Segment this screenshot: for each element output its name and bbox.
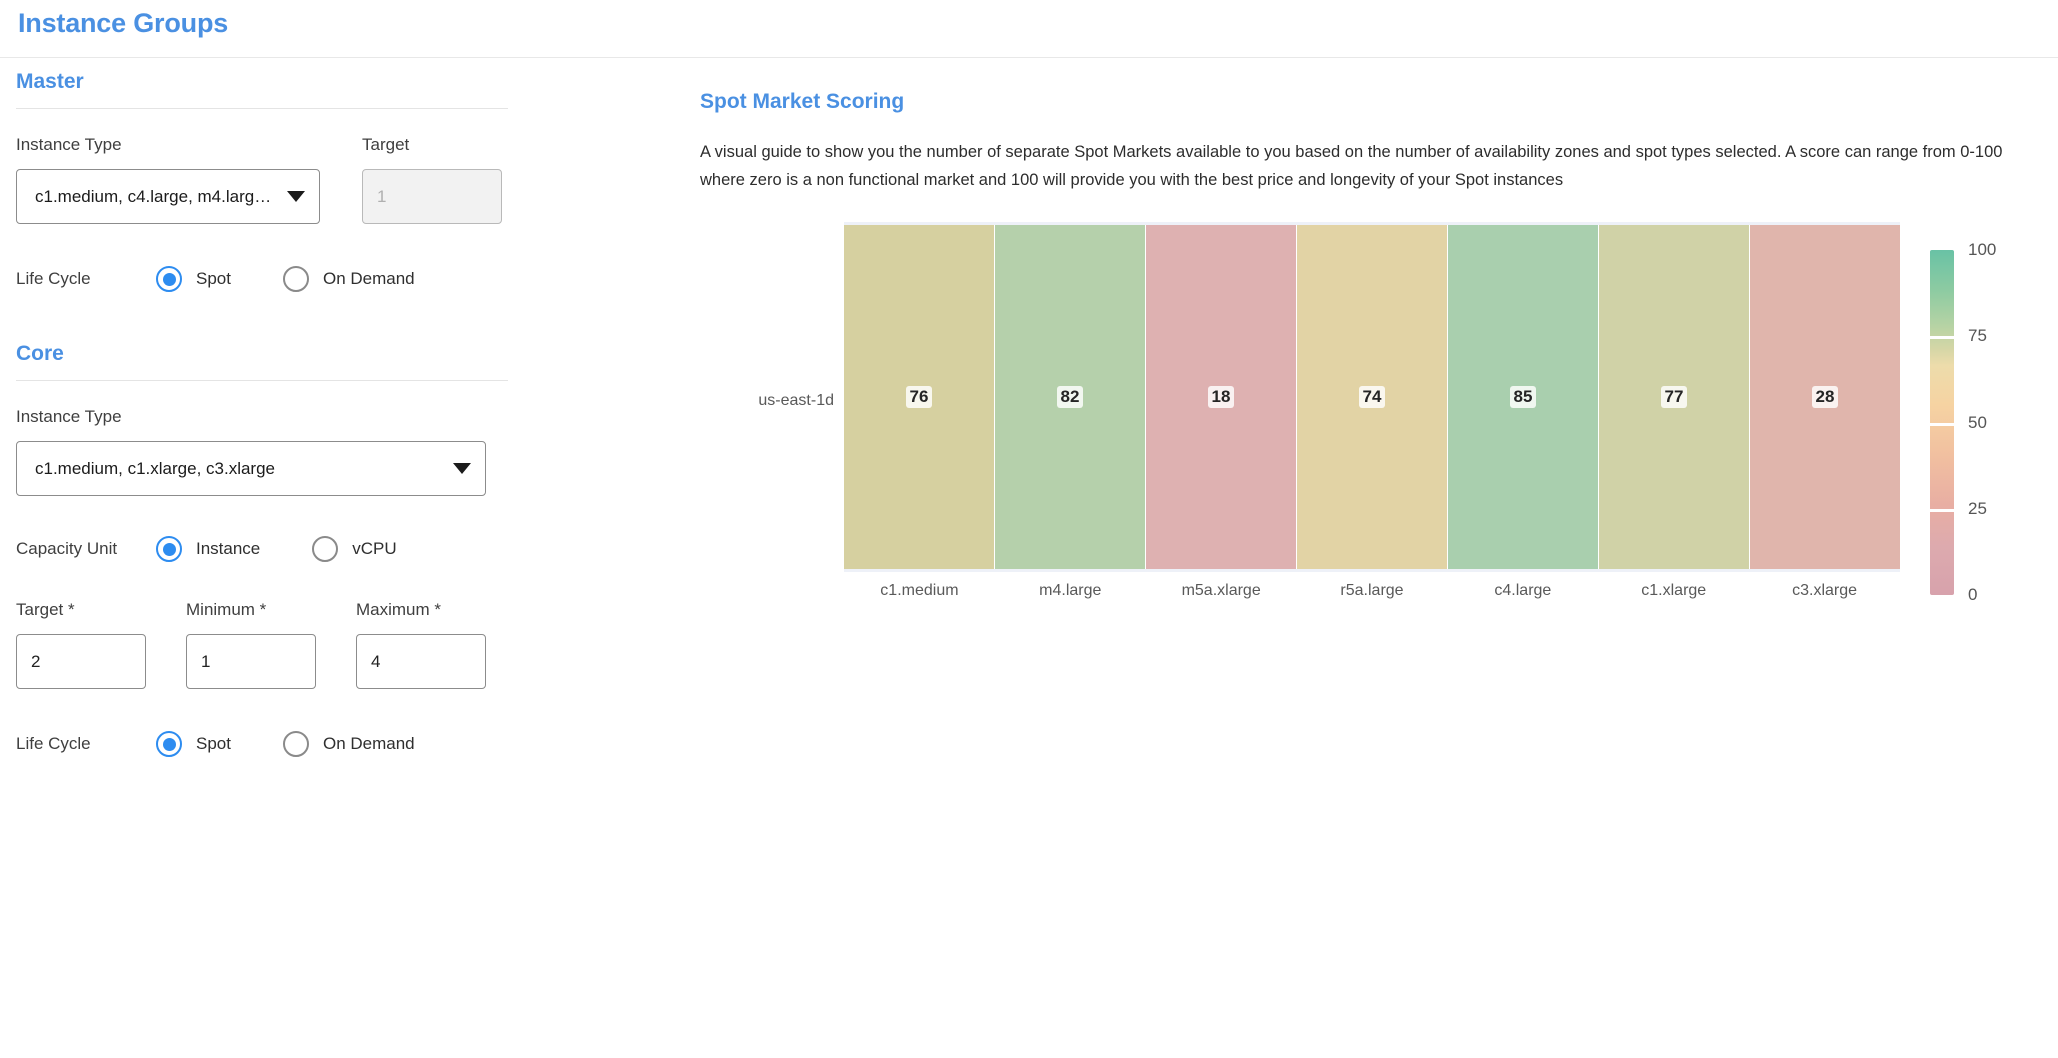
- core-heading: Core: [16, 342, 700, 366]
- colorbar-tick-label: 50: [1968, 413, 1987, 433]
- heatmap-colorbar: 1007550250: [1930, 242, 2040, 602]
- heatmap-cell-value: 85: [1510, 386, 1537, 408]
- spot-market-scoring-panel: Spot Market Scoring A visual guide to sh…: [700, 70, 2058, 1058]
- core-instance-type-value: c1.medium, c1.xlarge, c3.xlarge: [35, 459, 275, 479]
- heatmap-cell[interactable]: 74: [1297, 225, 1448, 569]
- heatmap-x-label: c3.xlarge: [1749, 582, 1900, 600]
- colorbar-tick-label: 25: [1968, 499, 1987, 519]
- core-maximum-label: Maximum *: [356, 600, 526, 620]
- heatmap-x-label: c4.large: [1447, 582, 1598, 600]
- spot-market-heatmap: us-east-1d 76821874857728 c1.mediumm4.la…: [700, 222, 2050, 642]
- core-capacity-fields: Target * 2 Minimum * 1 Maximum * 4: [16, 600, 700, 689]
- core-maximum-input[interactable]: 4: [356, 634, 486, 689]
- master-life-cycle-spot-label: Spot: [196, 269, 231, 289]
- radio-icon-instance[interactable]: [156, 536, 182, 562]
- heatmap-cell[interactable]: 77: [1599, 225, 1750, 569]
- core-target-field: Target * 2: [16, 600, 186, 689]
- heatmap-cell[interactable]: 85: [1448, 225, 1599, 569]
- core-target-value: 2: [31, 652, 40, 672]
- core-target-input[interactable]: 2: [16, 634, 146, 689]
- colorbar-tick: [1930, 423, 1954, 426]
- master-heading: Master: [16, 70, 700, 94]
- master-target-label: Target: [362, 135, 532, 155]
- heatmap-x-label: r5a.large: [1297, 582, 1448, 600]
- chevron-down-icon: [287, 191, 305, 202]
- colorbar-tick: [1930, 336, 1954, 339]
- title-divider: [0, 57, 2058, 58]
- heatmap-x-label: c1.xlarge: [1598, 582, 1749, 600]
- master-target-field: Target 1: [362, 135, 532, 224]
- core-divider: [16, 380, 508, 381]
- heatmap-cell-value: 28: [1812, 386, 1839, 408]
- heatmap-cell-value: 82: [1057, 386, 1084, 408]
- colorbar-tick-label: 75: [1968, 326, 1987, 346]
- radio-icon-spot[interactable]: [156, 731, 182, 757]
- core-instance-type-select[interactable]: c1.medium, c1.xlarge, c3.xlarge: [16, 441, 486, 496]
- core-life-cycle-label: Life Cycle: [16, 734, 156, 754]
- core-capacity-unit-option-vcpu[interactable]: vCPU: [312, 536, 396, 562]
- core-target-label: Target *: [16, 600, 186, 620]
- radio-icon-vcpu[interactable]: [312, 536, 338, 562]
- heatmap-cell-value: 18: [1208, 386, 1235, 408]
- heatmap-cell[interactable]: 76: [844, 225, 995, 569]
- core-life-cycle-on-demand-label: On Demand: [323, 734, 415, 754]
- master-life-cycle-option-spot[interactable]: Spot: [156, 266, 231, 292]
- master-section: Master Instance Type c1.medium, c4.large…: [0, 70, 700, 292]
- core-maximum-field: Maximum * 4: [356, 600, 526, 689]
- core-capacity-unit-vcpu-label: vCPU: [352, 539, 396, 559]
- core-life-cycle-option-spot[interactable]: Spot: [156, 731, 231, 757]
- core-maximum-value: 4: [371, 652, 380, 672]
- core-capacity-unit-option-instance[interactable]: Instance: [156, 536, 260, 562]
- heatmap-x-label: m5a.xlarge: [1146, 582, 1297, 600]
- heatmap-cell[interactable]: 18: [1146, 225, 1297, 569]
- heatmap-x-label: c1.medium: [844, 582, 995, 600]
- master-instance-type-value: c1.medium, c4.large, m4.large, …: [35, 187, 277, 207]
- heatmap-row-label: us-east-1d: [700, 392, 834, 410]
- heatmap-x-axis-labels: c1.mediumm4.largem5a.xlarger5a.largec4.l…: [844, 582, 1900, 600]
- colorbar-tick-label: 100: [1968, 240, 1996, 260]
- master-target-input[interactable]: 1: [362, 169, 502, 224]
- instance-groups-page: Instance Groups Master Instance Type c1.…: [0, 0, 2058, 1058]
- master-instance-type-label: Instance Type: [16, 135, 336, 155]
- core-capacity-unit-row: Capacity Unit Instance vCPU: [16, 536, 700, 562]
- core-life-cycle-row: Life Cycle Spot On Demand: [16, 731, 700, 757]
- chevron-down-icon: [453, 463, 471, 474]
- core-instance-type-field: Instance Type c1.medium, c1.xlarge, c3.x…: [16, 407, 700, 496]
- spot-market-heading: Spot Market Scoring: [700, 70, 2058, 114]
- spot-market-description: A visual guide to show you the number of…: [700, 138, 2020, 194]
- master-life-cycle-on-demand-label: On Demand: [323, 269, 415, 289]
- core-minimum-value: 1: [201, 652, 210, 672]
- heatmap-grid: 76821874857728: [844, 222, 1900, 572]
- heatmap-cell[interactable]: 28: [1750, 225, 1900, 569]
- heatmap-cell-value: 74: [1359, 386, 1386, 408]
- heatmap-cell-value: 77: [1661, 386, 1688, 408]
- core-life-cycle-option-on-demand[interactable]: On Demand: [283, 731, 415, 757]
- core-instance-type-label: Instance Type: [16, 407, 700, 427]
- heatmap-x-label: m4.large: [995, 582, 1146, 600]
- core-minimum-field: Minimum * 1: [186, 600, 356, 689]
- colorbar-tick: [1930, 509, 1954, 512]
- core-minimum-input[interactable]: 1: [186, 634, 316, 689]
- radio-icon-on-demand[interactable]: [283, 731, 309, 757]
- colorbar-tick-label: 0: [1968, 585, 1977, 605]
- instance-groups-form: Master Instance Type c1.medium, c4.large…: [0, 70, 700, 1058]
- master-life-cycle-row: Life Cycle Spot On Demand: [16, 266, 700, 292]
- core-minimum-label: Minimum *: [186, 600, 356, 620]
- master-life-cycle-option-on-demand[interactable]: On Demand: [283, 266, 415, 292]
- core-capacity-unit-label: Capacity Unit: [16, 539, 156, 559]
- core-section: Core Instance Type c1.medium, c1.xlarge,…: [0, 342, 700, 757]
- master-divider: [16, 108, 508, 109]
- master-target-placeholder: 1: [377, 187, 386, 207]
- page-title: Instance Groups: [18, 8, 228, 39]
- master-instance-type-field: Instance Type c1.medium, c4.large, m4.la…: [16, 135, 336, 224]
- heatmap-cell[interactable]: 82: [995, 225, 1146, 569]
- core-life-cycle-spot-label: Spot: [196, 734, 231, 754]
- core-capacity-unit-instance-label: Instance: [196, 539, 260, 559]
- master-life-cycle-label: Life Cycle: [16, 269, 156, 289]
- master-instance-type-select[interactable]: c1.medium, c4.large, m4.large, …: [16, 169, 320, 224]
- radio-icon-spot[interactable]: [156, 266, 182, 292]
- heatmap-cell-value: 76: [906, 386, 933, 408]
- radio-icon-on-demand[interactable]: [283, 266, 309, 292]
